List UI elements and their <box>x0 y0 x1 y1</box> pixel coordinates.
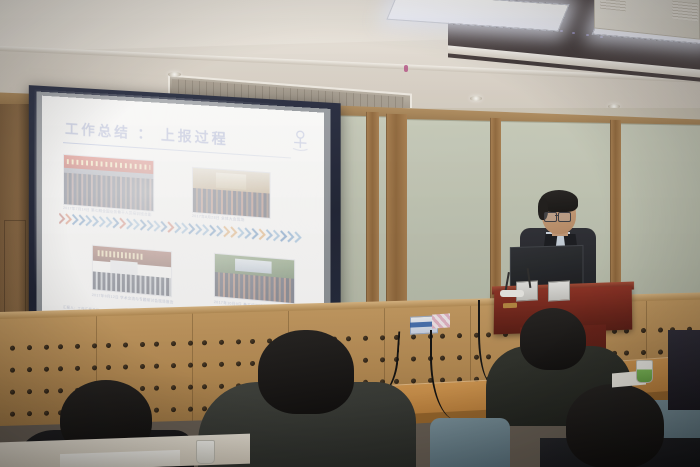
perforation-dot <box>123 342 128 347</box>
perforation-dot <box>658 327 663 332</box>
perforation-dot <box>27 367 32 372</box>
perforation-dot <box>250 361 255 366</box>
glasses-bridge <box>555 215 559 216</box>
perforation-dot <box>219 340 224 345</box>
patterned-item <box>432 313 450 328</box>
paper-cup <box>196 440 215 464</box>
organization-logo <box>289 127 312 153</box>
name-plate <box>548 280 570 301</box>
wall-wood-column <box>386 114 407 324</box>
slide-photo-auditorium <box>192 167 271 219</box>
perforation-dot <box>219 384 224 389</box>
perforation-dot <box>154 342 159 347</box>
left-wood-column <box>0 104 30 324</box>
perforation-dot <box>58 344 63 349</box>
perforation-dot <box>27 389 32 394</box>
slide-photo-meeting <box>92 245 172 298</box>
perforation-dot <box>140 342 145 347</box>
perforation-dot <box>10 368 15 373</box>
microphone-base <box>500 290 524 297</box>
audience-member-torso <box>668 330 700 410</box>
perforation-dot <box>75 344 80 349</box>
perforation-dot <box>171 407 176 412</box>
perforation-dot <box>188 385 193 390</box>
perforation-dot <box>44 411 49 416</box>
papers <box>60 450 180 467</box>
perforation-dot <box>140 364 145 369</box>
perforation-dot <box>10 346 15 351</box>
perforation-dot <box>27 411 32 416</box>
perforation-dot <box>154 408 159 413</box>
perforation-dot <box>58 366 63 371</box>
perforation-dot <box>188 407 193 412</box>
downlight <box>470 96 482 101</box>
perforation-dot <box>202 340 207 345</box>
perforation-dot <box>106 343 111 348</box>
perforation-dot <box>75 366 80 371</box>
perforation-dot <box>202 362 207 367</box>
perforation-dot <box>92 365 97 370</box>
perforation-dot <box>236 339 241 344</box>
perforation-dot <box>44 345 49 350</box>
ceiling-marker <box>404 65 408 72</box>
perforation-dot <box>411 356 416 361</box>
perforation-dot <box>154 386 159 391</box>
perforation-dot <box>474 355 479 360</box>
perforation-dot <box>188 341 193 346</box>
downlight <box>168 72 181 77</box>
perforation-dot <box>394 379 399 384</box>
perforation-dot <box>236 361 241 366</box>
glasses-icon <box>544 212 557 222</box>
recess-light-dot <box>600 36 603 38</box>
perforation-dot <box>123 364 128 369</box>
perforation-dot <box>10 390 15 395</box>
perforation-dot <box>346 336 351 341</box>
recess-light-dot <box>560 30 563 32</box>
perforation-dot <box>658 349 663 354</box>
green-paper-cup <box>636 360 653 383</box>
perforation-dot <box>411 334 416 339</box>
perforation-dot <box>641 350 646 355</box>
perforation-dot <box>44 367 49 372</box>
audience-member-head <box>566 384 664 467</box>
perforation-dot <box>624 350 629 355</box>
perforation-dot <box>171 363 176 368</box>
lectern-emblem <box>503 303 517 308</box>
chair <box>430 418 510 467</box>
perforation-dot <box>188 363 193 368</box>
recess-light-dot <box>586 34 589 36</box>
glasses-icon <box>558 212 571 222</box>
conference-room-photo: 工作总结 ： 上报过程 2017年7月14日 第七期全国业务骨干人员培训班合影 <box>0 0 700 467</box>
perforation-dot <box>140 386 145 391</box>
perforation-dot <box>10 412 15 417</box>
recess-light-dot <box>572 32 575 34</box>
perforation-dot <box>219 362 224 367</box>
audience-member-head <box>520 308 586 370</box>
perforation-dot <box>171 341 176 346</box>
audience-member-head <box>258 330 354 414</box>
perforation-dot <box>202 384 207 389</box>
perforation-dot <box>58 388 63 393</box>
slide-photo-classroom <box>214 253 295 304</box>
slide-photo-group <box>63 154 154 212</box>
perforation-dot <box>106 365 111 370</box>
perforation-dot <box>641 328 646 333</box>
ac-grill-icon <box>672 1 698 22</box>
perforation-dot <box>27 345 32 350</box>
perforation-dot <box>44 389 49 394</box>
perforation-dot <box>154 364 159 369</box>
wall-panel <box>404 119 498 327</box>
perforation-dot <box>250 339 255 344</box>
perforation-dot <box>171 385 176 390</box>
perforation-dot <box>92 343 97 348</box>
wall-wood-column <box>366 112 379 324</box>
